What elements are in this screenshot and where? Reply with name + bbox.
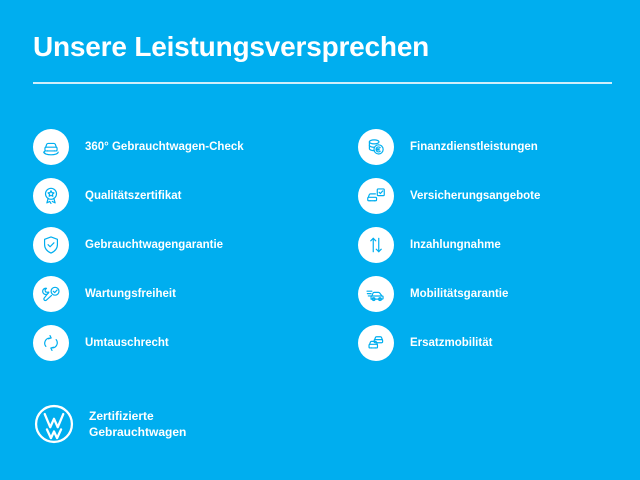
page-title: Unsere Leistungsversprechen <box>33 30 612 64</box>
car-document-check-icon <box>358 178 394 214</box>
promises-section: 360° Gebrauchtwagen-Check Qualitätszerti… <box>0 122 640 367</box>
wrench-check-icon <box>33 276 69 312</box>
exchange-arrows-icon <box>33 325 69 361</box>
promise-label: Umtauschrecht <box>85 336 169 350</box>
promise-item-finanzdienstleistungen: Finanzdienstleistungen <box>358 122 628 171</box>
promise-label: Gebrauchtwagengarantie <box>85 238 223 252</box>
promise-label: 360° Gebrauchtwagen-Check <box>85 140 244 154</box>
arrows-up-down-icon <box>358 227 394 263</box>
promise-label: Qualitätszertifikat <box>85 189 182 203</box>
header: Unsere Leistungsversprechen <box>33 30 612 64</box>
brand-text-line-2: Gebrauchtwagen <box>89 424 186 440</box>
car-360-check-icon <box>33 129 69 165</box>
two-cars-icon <box>358 325 394 361</box>
coins-euro-icon <box>358 129 394 165</box>
promise-label: Finanzdienstleistungen <box>410 140 538 154</box>
promise-label: Versicherungsangebote <box>410 189 540 203</box>
promise-item-versicherungsangebote: Versicherungsangebote <box>358 171 628 220</box>
leistungsversprechen-poster: Unsere Leistungsversprechen 360° Gebrauc <box>0 0 640 480</box>
promise-item-gebrauchtwagen-check: 360° Gebrauchtwagen-Check <box>33 122 353 171</box>
volkswagen-logo <box>33 403 75 445</box>
brand-text-line-1: Zertifizierte <box>89 408 186 424</box>
promise-item-ersatzmobilitaet: Ersatzmobilität <box>358 318 628 367</box>
promise-label: Inzahlungnahme <box>410 238 501 252</box>
promise-item-umtauschrecht: Umtauschrecht <box>33 318 353 367</box>
promises-right-column: Finanzdienstleistungen Versicherungsange… <box>358 122 628 367</box>
promise-item-wartungsfreiheit: Wartungsfreiheit <box>33 269 353 318</box>
promises-left-column: 360° Gebrauchtwagen-Check Qualitätszerti… <box>33 122 353 367</box>
title-divider <box>33 82 612 84</box>
promise-label: Ersatzmobilität <box>410 336 492 350</box>
promise-item-mobilitaetsgarantie: Mobilitätsgarantie <box>358 269 628 318</box>
quality-award-rosette-icon <box>33 178 69 214</box>
promise-item-inzahlungnahme: Inzahlungnahme <box>358 220 628 269</box>
promise-item-gebrauchtwagengarantie: Gebrauchtwagengarantie <box>33 220 353 269</box>
brand-text: Zertifizierte Gebrauchtwagen <box>89 408 186 440</box>
promise-item-qualitaetszertifikat: Qualitätszertifikat <box>33 171 353 220</box>
promise-label: Wartungsfreiheit <box>85 287 176 301</box>
car-motion-icon <box>358 276 394 312</box>
shield-check-icon <box>33 227 69 263</box>
promise-label: Mobilitätsgarantie <box>410 287 508 301</box>
brand-lockup: Zertifizierte Gebrauchtwagen <box>33 403 186 445</box>
